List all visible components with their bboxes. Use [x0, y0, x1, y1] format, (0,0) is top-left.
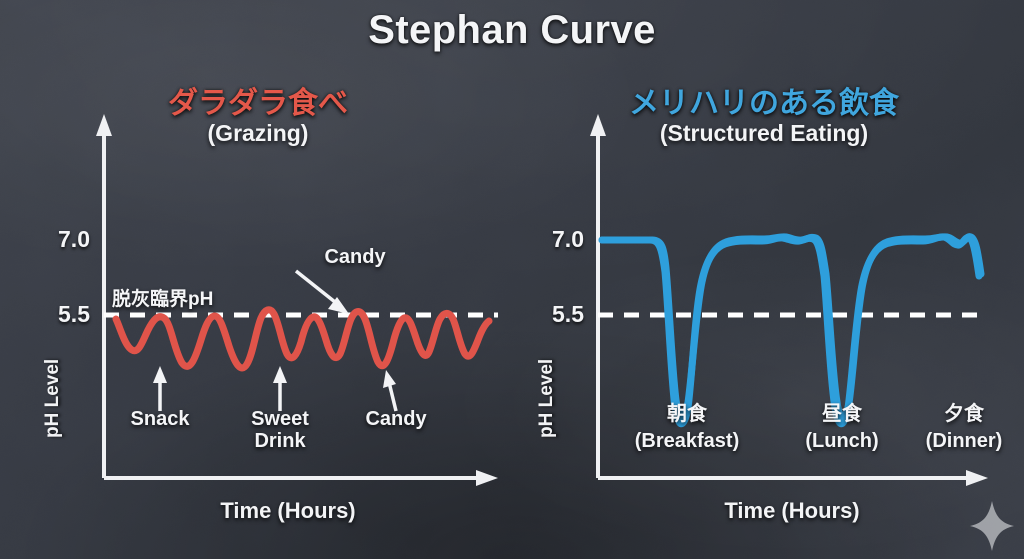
structured-annotation-breakfast-en: (Breakfast): [612, 430, 762, 452]
sparkle-icon: [968, 499, 1016, 553]
grazing-plot: pH Level 7.0 5.5 脱灰臨界pH Candy Snack Swee…: [8, 78, 508, 548]
grazing-curve: [116, 310, 489, 368]
structured-annotation-dinner-jp: 夕食: [904, 403, 1024, 425]
grazing-annotation-candy-top: Candy: [300, 246, 410, 268]
grazing-annotation-snack: Snack: [110, 408, 210, 430]
grazing-x-axis: [104, 470, 498, 486]
critical-ph-label: 脱灰臨界pH: [112, 284, 213, 311]
structured-annotation-lunch-jp: 昼食: [782, 403, 902, 425]
grazing-candy-pointer-arrow: [296, 271, 349, 314]
structured-y-axis-label: pH Level: [536, 359, 558, 438]
grazing-y-tick-55: 5.5: [18, 301, 90, 328]
page-title: Stephan Curve: [0, 8, 1024, 53]
grazing-y-tick-70: 7.0: [18, 226, 90, 253]
grazing-annotation-arrows: [153, 366, 396, 411]
structured-plot: pH Level 7.0 5.5 朝食 (Breakfast) 昼食 (Lunc…: [512, 78, 1016, 548]
panel-structured-eating: メリハリのある飲食 (Structured Eating): [512, 78, 1016, 548]
structured-annotation-breakfast-jp: 朝食: [622, 403, 752, 425]
grazing-annotation-candy: Candy: [346, 408, 446, 430]
structured-annotation-dinner-en: (Dinner): [898, 430, 1024, 452]
grazing-y-axis-label: pH Level: [42, 359, 64, 438]
structured-annotation-lunch-en: (Lunch): [776, 430, 908, 452]
structured-y-tick-55: 5.5: [512, 301, 584, 328]
panel-grazing: ダラダラ食べ (Grazing): [8, 78, 508, 548]
grazing-annotation-sweet-drink: Sweet Drink: [228, 408, 332, 453]
grazing-x-axis-label: Time (Hours): [128, 498, 448, 524]
structured-x-axis-label: Time (Hours): [632, 498, 952, 524]
structured-y-tick-70: 7.0: [512, 226, 584, 253]
